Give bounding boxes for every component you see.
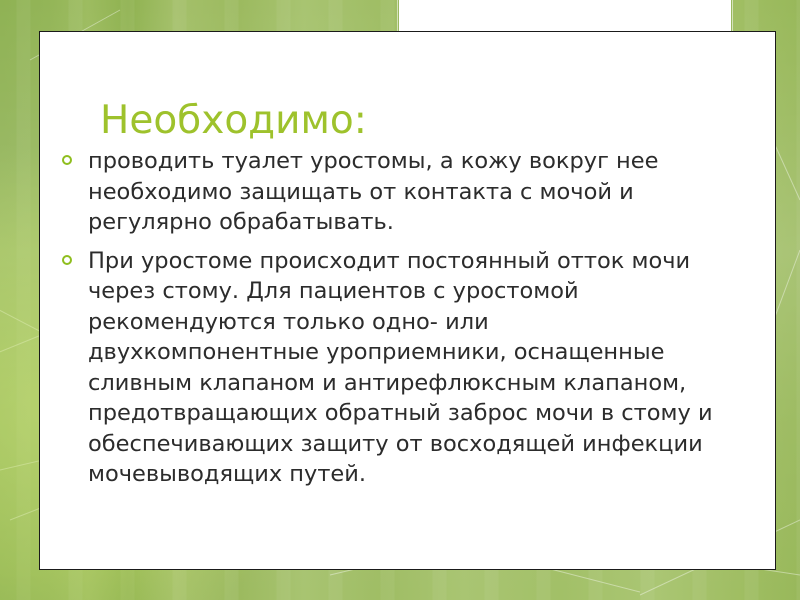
slide-body: Необходимо: проводить туалет уростомы, а… [60, 98, 720, 490]
list-item: При уростоме происходит постоянный отток… [60, 246, 720, 490]
list-item-label: При уростоме происходит постоянный отток… [88, 246, 720, 490]
list-item-label: проводить туалет уростомы, а кожу вокруг… [88, 146, 720, 238]
list-item: проводить туалет уростомы, а кожу вокруг… [60, 146, 720, 238]
hollow-circle-bullet-icon [62, 155, 72, 165]
hollow-circle-bullet-icon [62, 255, 72, 265]
presentation-slide: Необходимо: проводить туалет уростомы, а… [0, 0, 800, 600]
page-title: Необходимо: [60, 98, 720, 144]
bullet-list: проводить туалет уростомы, а кожу вокруг… [60, 146, 720, 490]
